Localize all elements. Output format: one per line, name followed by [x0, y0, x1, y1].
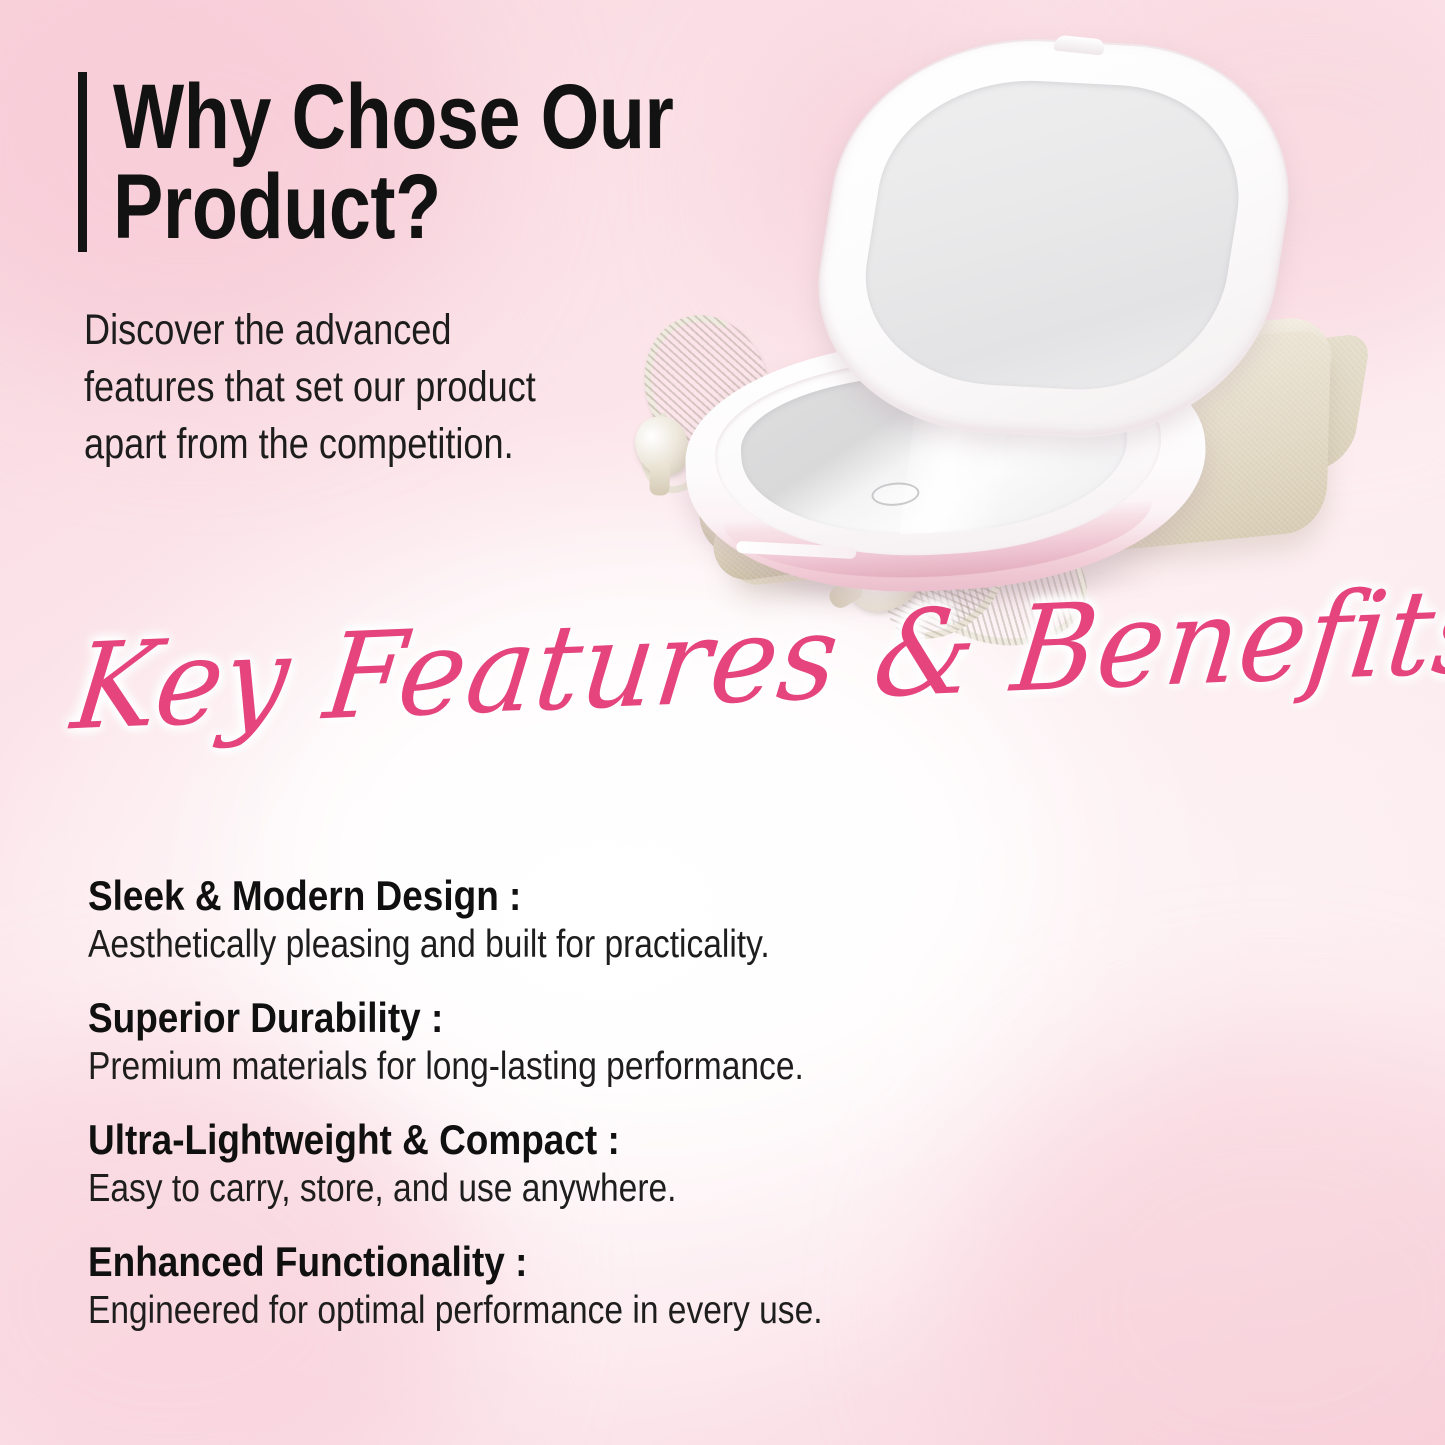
mirror-lid-hinge-nub	[1053, 35, 1106, 56]
mirror-lid-glass	[849, 74, 1257, 397]
headline-block: Why Chose Our Product?	[78, 72, 797, 252]
feature-title: Superior Durability :	[88, 994, 818, 1041]
key-features-script-heading: Key Features & Benefits:	[67, 590, 1021, 746]
page-title-line-2: Product?	[113, 162, 674, 252]
headline-accent-rule	[78, 72, 87, 252]
poster-canvas: Why Chose Our Product? Discover the adva…	[0, 0, 1445, 1445]
feature-item: Enhanced Functionality : Engineered for …	[88, 1238, 918, 1334]
feature-title: Sleek & Modern Design :	[88, 872, 818, 919]
feature-item: Superior Durability : Premium materials …	[88, 994, 918, 1090]
page-title-line-1: Why Chose Our	[113, 66, 674, 168]
features-list: Sleek & Modern Design : Aesthetically pl…	[88, 872, 918, 1334]
feature-description: Aesthetically pleasing and built for pra…	[88, 923, 802, 968]
feature-title: Enhanced Functionality :	[88, 1238, 818, 1285]
feature-description: Premium materials for long-lasting perfo…	[88, 1045, 802, 1090]
page-title: Why Chose Our Product?	[113, 72, 674, 252]
bg-blotch-bottom-right	[955, 1035, 1445, 1445]
page-subcopy: Discover the advanced features that set …	[84, 302, 554, 472]
feature-item: Sleek & Modern Design : Aesthetically pl…	[88, 872, 918, 968]
feature-title: Ultra-Lightweight & Compact :	[88, 1116, 818, 1163]
feature-item: Ultra-Lightweight & Compact : Easy to ca…	[88, 1116, 918, 1212]
feature-description: Easy to carry, store, and use anywhere.	[88, 1167, 802, 1212]
feature-description: Engineered for optimal performance in ev…	[88, 1289, 802, 1334]
